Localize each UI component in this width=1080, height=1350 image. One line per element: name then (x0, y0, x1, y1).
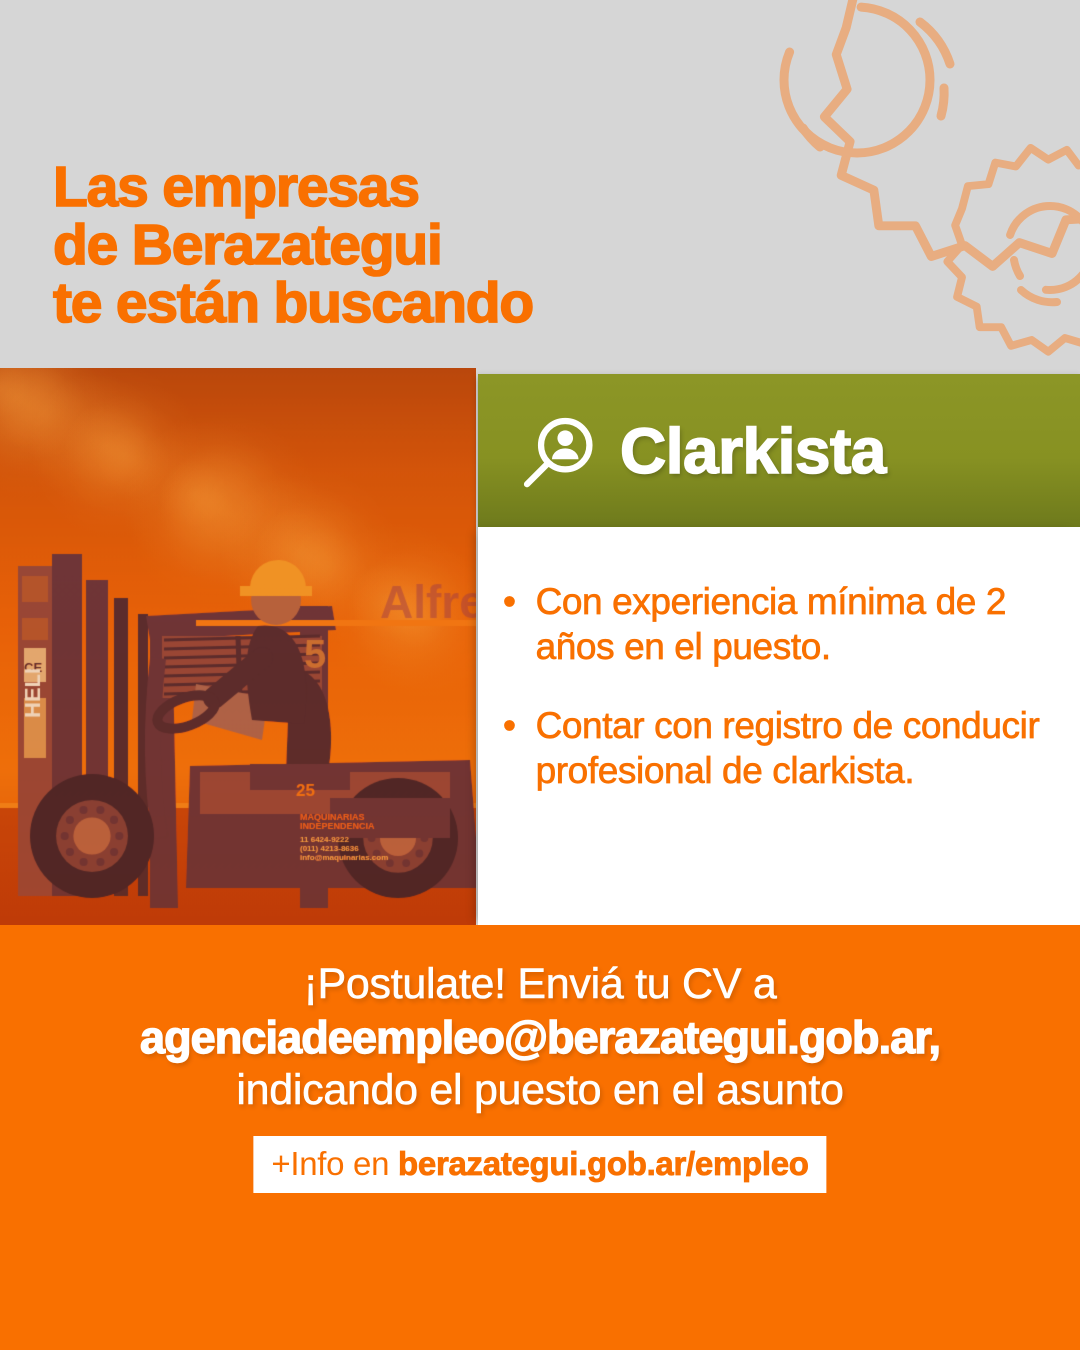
list-item: • Contar con registro de conducir profes… (503, 703, 1066, 793)
cta-block: ¡Postulate! Enviá tu CV a agenciadeemple… (0, 958, 1080, 1117)
job-title: Clarkista (620, 414, 886, 488)
forklift-photo-canvas (0, 368, 476, 925)
list-item: • Con experiencia mínima de 2 años en el… (503, 579, 1066, 669)
page-title: Las empresas de Berazategui te están bus… (53, 158, 533, 332)
cta-line-1: ¡Postulate! Enviá tu CV a (0, 958, 1080, 1011)
info-prefix: +Info en (271, 1145, 398, 1182)
requirement-text: Con experiencia mínima de 2 años en el p… (536, 579, 1066, 669)
requirement-text: Contar con registro de conducir profesio… (536, 703, 1066, 793)
person-search-icon (520, 414, 598, 492)
bullet-icon: • (503, 703, 516, 748)
job-posting-poster: Las empresas de Berazategui te están bus… (0, 0, 1080, 1350)
info-chip[interactable]: +Info en berazategui.gob.ar/empleo (253, 1136, 826, 1193)
requirements-list: • Con experiencia mínima de 2 años en el… (503, 579, 1066, 793)
job-title-banner: Clarkista (478, 374, 1080, 527)
cta-email[interactable]: agenciadeempleo@berazategui.gob.ar, (0, 1011, 1080, 1064)
gears-icon (672, 0, 1080, 360)
forklift-photo (0, 368, 476, 925)
cta-line-3: indicando el puesto en el asunto (0, 1064, 1080, 1117)
info-url[interactable]: berazategui.gob.ar/empleo (398, 1145, 809, 1182)
cta-band: ¡Postulate! Enviá tu CV a agenciadeemple… (0, 925, 1080, 1350)
bullet-icon: • (503, 579, 516, 624)
requirements-panel: • Con experiencia mínima de 2 años en el… (478, 527, 1080, 925)
header-band: Las empresas de Berazategui te están bus… (0, 0, 1080, 368)
